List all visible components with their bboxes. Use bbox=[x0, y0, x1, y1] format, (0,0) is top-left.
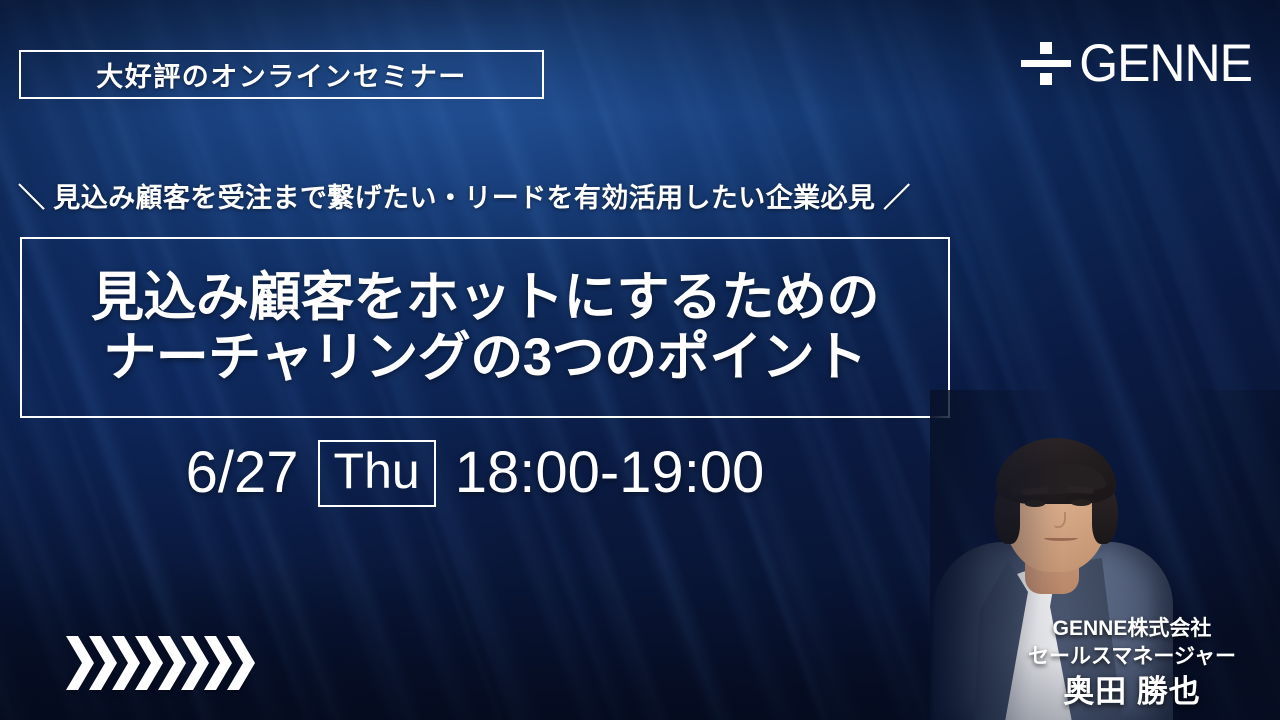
header-badge-label: 大好評のオンラインセミナー bbox=[96, 55, 467, 94]
schedule-date: 6/27 bbox=[186, 444, 299, 502]
hero-title-line-1: 見込み顧客をホットにするための bbox=[91, 269, 879, 326]
webinar-banner: 大好評のオンラインセミナー GENNE ＼ 見込み顧客を受注まで繋げたい・リード… bbox=[0, 0, 1280, 720]
schedule-time: 18:00-19:00 bbox=[455, 444, 765, 502]
schedule-row: 6/27 Thu 18:00-19:00 bbox=[0, 440, 950, 507]
speaker-company: GENNE株式会社 bbox=[1002, 615, 1262, 643]
speaker-name: 奥田 勝也 bbox=[1002, 672, 1262, 712]
speaker-caption: GENNE株式会社 セールスマネージャー 奥田 勝也 bbox=[1002, 615, 1262, 712]
schedule-weekday-box: Thu bbox=[318, 440, 436, 507]
brand-wordmark: GENNE bbox=[1079, 37, 1252, 90]
header-badge: 大好評のオンラインセミナー bbox=[19, 50, 544, 99]
schedule-weekday: Thu bbox=[334, 445, 420, 498]
hero-title-box: 見込み顧客をホットにするための ナーチャリングの3つのポイント bbox=[20, 237, 950, 418]
hero-title-line-2: ナーチャリングの3つのポイント bbox=[103, 329, 866, 386]
brand-logo: GENNE bbox=[1021, 38, 1252, 88]
speaker-role: セールスマネージャー bbox=[1002, 643, 1262, 671]
chevron-right-icon bbox=[225, 634, 255, 692]
chevron-decoration bbox=[64, 634, 248, 692]
hero-tagline: ＼ 見込み顧客を受注まで繋げたい・リードを有効活用したい企業必見 ／ bbox=[18, 176, 948, 215]
division-sign-icon bbox=[1021, 40, 1071, 86]
